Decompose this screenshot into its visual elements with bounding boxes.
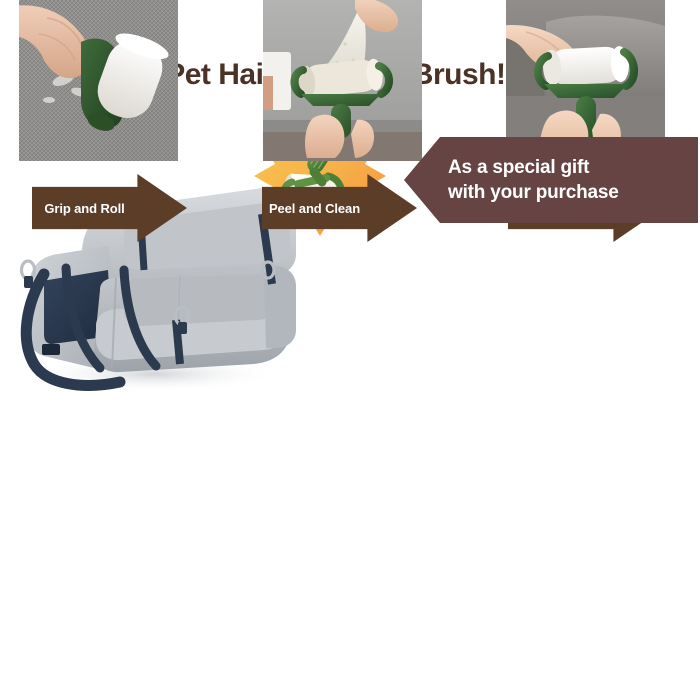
step-photo-efficient [506,0,665,161]
step-label-peel-and-clean: Peel and Clean [262,174,367,242]
step-photo-peel-and-clean [263,0,422,161]
step-arrow-grip-and-roll: Grip and Roll [32,174,187,242]
step-arrow-peel-and-clean: Peel and Clean [262,174,417,242]
gift-banner-line1: As a special gift [448,155,698,180]
step-photo-grip-and-roll [19,0,178,161]
gift-banner-line2: with your purchase [448,180,698,205]
infographic-page: Bonus: Effortless Pet Hair Removal Brush… [0,0,700,700]
step-label-grip-and-roll: Grip and Roll [32,174,137,242]
special-gift-banner: As a special gift with your purchase [404,137,698,223]
